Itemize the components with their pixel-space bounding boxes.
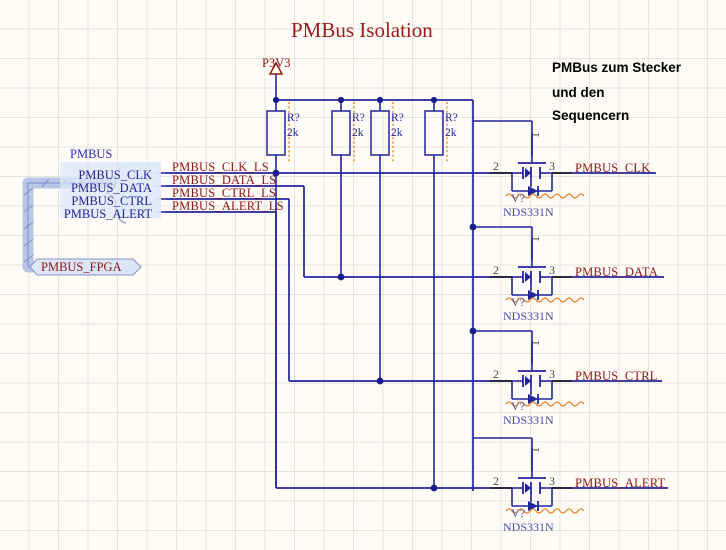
output-wire-group[interactable] <box>552 173 668 488</box>
resistor-3-ref[interactable]: R? <box>391 113 404 125</box>
junction-dot <box>431 485 438 492</box>
mosfet-2-part[interactable]: NDS331N <box>503 310 554 322</box>
resistor-4-ref[interactable]: R? <box>445 113 458 125</box>
note-line-3: Sequencern <box>552 106 629 125</box>
junction-dot <box>338 274 345 281</box>
mosfet-v3[interactable] <box>512 341 552 404</box>
mosfet-1-pin-2: 2 <box>493 160 499 172</box>
mosfet-1-pin-1: 1 <box>529 132 541 138</box>
mosfet-1-ref[interactable]: V? <box>511 192 525 204</box>
mosfet-2-pin-1: 1 <box>529 236 541 242</box>
resistor-1-ref[interactable]: R? <box>287 113 300 125</box>
net-label-pmbus-clk-ls[interactable]: PMBUS_CLK_LS <box>172 161 269 174</box>
bus-header: PMBUS <box>70 148 112 161</box>
mosfet-3-part[interactable]: NDS331N <box>503 414 554 426</box>
net-label-pmbus-ctrl-ls[interactable]: PMBUS_CTRL_LS <box>172 187 276 200</box>
note-line-1: PMBus zum Stecker <box>552 58 681 77</box>
mosfet-3-pin-3: 3 <box>549 368 555 380</box>
sheet-pin-pmbus-clk[interactable]: PMBUS_CLK <box>78 169 152 182</box>
net-label-pmbus-ctrl[interactable]: PMBUS_CTRL <box>575 370 658 383</box>
drc-squiggle-group <box>506 194 584 513</box>
mosfet-4-part[interactable]: NDS331N <box>503 521 554 533</box>
mosfet-v4[interactable] <box>512 448 552 511</box>
sheet-pin-pmbus-data[interactable]: PMBUS_DATA <box>71 182 152 195</box>
mosfet-2-ref[interactable]: V? <box>511 296 525 308</box>
net-label-pmbus-alert[interactable]: PMBUS_ALERT <box>575 477 665 490</box>
mosfet-1-part[interactable]: NDS331N <box>503 206 554 218</box>
mosfet-2-pin-2: 2 <box>493 264 499 276</box>
junction-dot <box>377 378 384 385</box>
resistor-group <box>267 100 443 488</box>
mosfet-1-pin-3: 3 <box>549 160 555 172</box>
resistor-4-value[interactable]: 2k <box>445 128 457 140</box>
resistor-1-value[interactable]: 2k <box>287 128 299 140</box>
mosfet-4-pin-2: 2 <box>493 475 499 487</box>
sheet-pin-pmbus-alert[interactable]: PMBUS_ALERT <box>64 208 152 221</box>
note-line-2: und den <box>552 83 605 102</box>
resistor-3-value[interactable]: 2k <box>391 128 403 140</box>
mosfet-3-pin-1: 1 <box>529 340 541 346</box>
mosfet-3-ref[interactable]: V? <box>511 400 525 412</box>
mosfet-2-pin-3: 3 <box>549 264 555 276</box>
wire-pmbus-ctrl-ls[interactable] <box>166 199 512 381</box>
resistor-2-ref[interactable]: R? <box>352 113 365 125</box>
mosfet-v2[interactable] <box>512 237 552 300</box>
mosfet-v1[interactable] <box>512 133 552 196</box>
power-label-p3v3: P3V3 <box>262 57 290 70</box>
net-label-pmbus-alert-ls[interactable]: PMBUS_ALERT_LS <box>172 200 284 213</box>
sheet-pin-pmbus-ctrl[interactable]: PMBUS_CTRL <box>71 195 152 208</box>
resistor-2-value[interactable]: 2k <box>352 128 364 140</box>
mosfet-4-pin-1: 1 <box>529 447 541 453</box>
resistor-drc-marker-group <box>289 102 447 162</box>
mosfet-3-pin-2: 2 <box>493 368 499 380</box>
net-label-pmbus-data-ls[interactable]: PMBUS_DATA_LS <box>172 174 276 187</box>
wire-pmbus-alert-ls[interactable] <box>166 212 512 488</box>
net-label-pmbus-clk[interactable]: PMBUS_CLK <box>575 162 650 175</box>
mosfet-4-pin-3: 3 <box>549 475 555 487</box>
net-label-pmbus-data[interactable]: PMBUS_DATA <box>575 266 658 279</box>
net-tag-label-pmbus-fpga[interactable]: PMBUS_FPGA <box>41 261 122 274</box>
schematic-sheet[interactable]: PMBus Isolation PMBus zum Stecker und de… <box>0 0 726 550</box>
mosfet-4-ref[interactable]: V? <box>511 507 525 519</box>
page-title: PMBus Isolation <box>291 20 433 41</box>
